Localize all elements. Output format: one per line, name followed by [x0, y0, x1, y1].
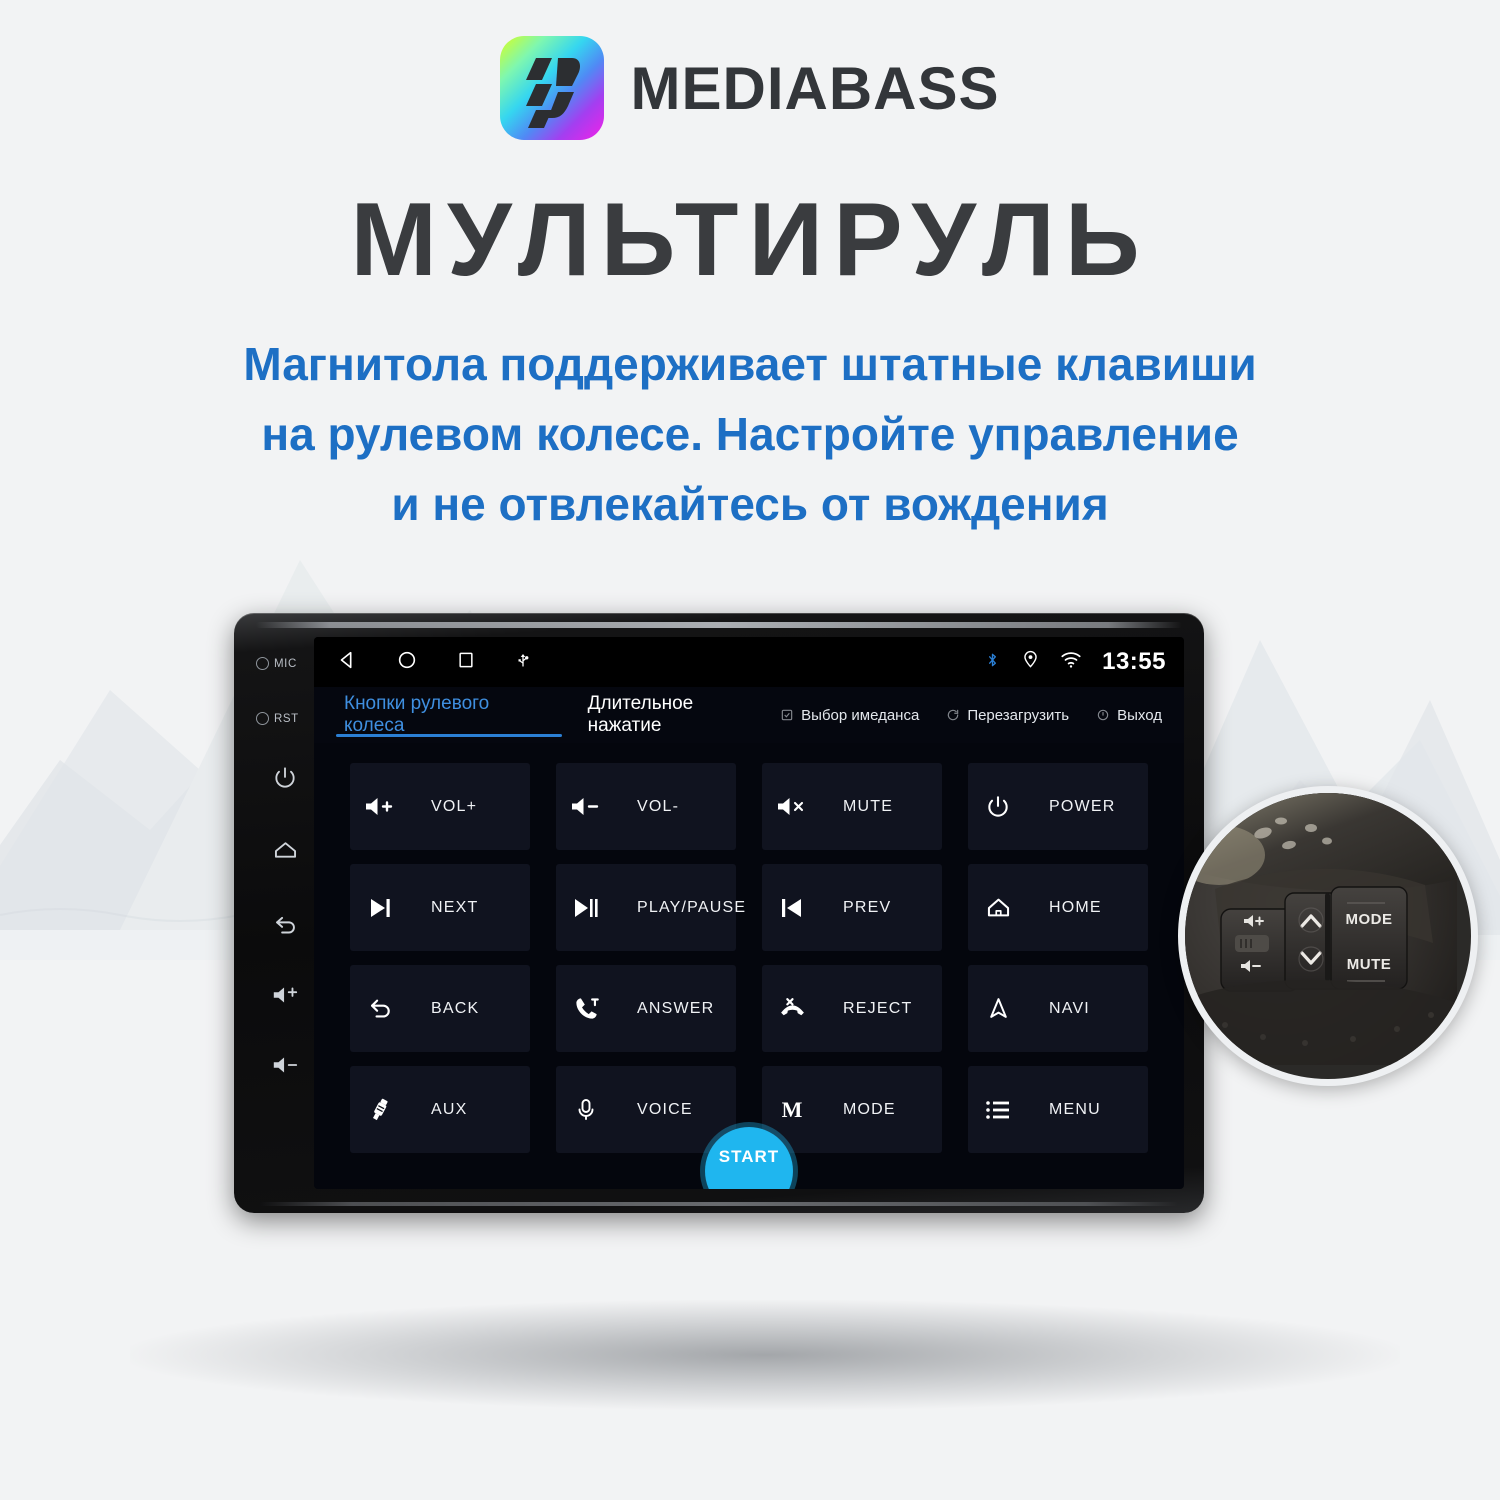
- back-triangle-icon[interactable]: [336, 649, 358, 676]
- bezel-top-highlight: [256, 622, 1182, 628]
- location-pin-icon: [1021, 649, 1040, 675]
- device-screen: 13:55 Кнопки рулевого колеса Длительное …: [314, 637, 1184, 1189]
- home-circle-icon[interactable]: [396, 649, 418, 676]
- swc-button-prev[interactable]: PREV: [762, 864, 942, 951]
- brand-name: MEDIABASS: [630, 54, 999, 123]
- tool-actions: Выбор имеданса Перезагрузить: [779, 707, 1162, 724]
- steering-wheel-photo: MODE MUTE: [1185, 793, 1457, 1065]
- status-clock: 13:55: [1102, 648, 1166, 676]
- volume-up-icon: [363, 795, 397, 819]
- home-icon[interactable]: [256, 837, 314, 864]
- back-icon[interactable]: [256, 910, 314, 937]
- swc-label: PLAY/PAUSE: [637, 899, 723, 917]
- next-track-icon: [363, 896, 397, 920]
- brand-header: MEDIABASS: [0, 36, 1500, 140]
- reset-label: RST: [274, 713, 299, 725]
- prev-track-icon: [775, 896, 809, 920]
- reload-action[interactable]: Перезагрузить: [945, 707, 1069, 724]
- device-side-rail: MIC RST: [256, 637, 314, 1189]
- power-icon[interactable]: [256, 765, 314, 791]
- impedance-select-label: Выбор имеданса: [801, 707, 919, 724]
- steering-wheel-photo-inset: MODE MUTE: [1178, 786, 1478, 1086]
- exit-icon: [1095, 708, 1110, 723]
- home-icon: [981, 894, 1015, 921]
- swc-button-menu[interactable]: MENU: [968, 1066, 1148, 1153]
- swc-label: NAVI: [1049, 1000, 1135, 1018]
- swc-button-mode[interactable]: M MODE: [762, 1066, 942, 1153]
- exit-label: Выход: [1117, 707, 1162, 724]
- swc-label: MODE: [843, 1101, 929, 1119]
- aux-plug-icon: [363, 1096, 397, 1123]
- power-icon: [981, 794, 1015, 820]
- swc-label: PREV: [843, 899, 929, 917]
- swc-button-vol-down[interactable]: VOL-: [556, 763, 736, 850]
- swc-button-answer[interactable]: ANSWER: [556, 965, 736, 1052]
- android-status-bar: 13:55: [314, 637, 1184, 687]
- swc-button-back[interactable]: BACK: [350, 965, 530, 1052]
- swc-button-voice[interactable]: VOICE: [556, 1066, 736, 1153]
- reload-label: Перезагрузить: [967, 707, 1069, 724]
- bluetooth-icon: [984, 649, 1001, 676]
- volume-down-icon: [569, 795, 603, 819]
- swc-label: VOL+: [431, 798, 517, 816]
- swc-label: AUX: [431, 1101, 517, 1119]
- svg-text:M: M: [782, 1097, 803, 1122]
- reset-hole-icon[interactable]: RST: [256, 712, 314, 725]
- swc-label: POWER: [1049, 798, 1135, 816]
- exit-action[interactable]: Выход: [1095, 707, 1162, 724]
- swc-button-navi[interactable]: NAVI: [968, 965, 1148, 1052]
- swc-button-reject[interactable]: REJECT: [762, 965, 942, 1052]
- subtitle-line-2: на рулевом колесе. Настройте управление: [0, 400, 1500, 470]
- swc-button-vol-up[interactable]: VOL+: [350, 763, 530, 850]
- swc-button-power[interactable]: POWER: [968, 763, 1148, 850]
- mic-hole-icon: MIC: [256, 657, 314, 670]
- subtitle-line-3: и не отвлекайтесь от вождения: [0, 470, 1500, 540]
- status-icons: 13:55: [984, 648, 1166, 676]
- page-subtitle: Магнитола поддерживает штатные клавиши н…: [0, 330, 1500, 540]
- recents-square-icon[interactable]: [456, 650, 476, 675]
- tab-steering-wheel-buttons[interactable]: Кнопки рулевого колеса: [336, 687, 562, 743]
- play-pause-icon: [569, 896, 603, 920]
- phone-answer-icon: [569, 995, 603, 1022]
- swc-button-aux[interactable]: AUX: [350, 1066, 530, 1153]
- wheel-key-mode: MODE: [1346, 911, 1393, 928]
- impedance-select-action[interactable]: Выбор имеданса: [779, 707, 919, 724]
- menu-list-icon: [981, 1098, 1015, 1122]
- impedance-icon: [779, 708, 794, 723]
- swc-label: VOICE: [637, 1101, 723, 1119]
- wheel-key-mute: MUTE: [1347, 956, 1392, 973]
- swc-button-next[interactable]: NEXT: [350, 864, 530, 951]
- car-head-unit: MIC RST: [234, 613, 1204, 1213]
- mediabass-logo-icon: [500, 36, 604, 140]
- navigation-icons: [336, 649, 532, 676]
- reload-icon: [945, 708, 960, 723]
- swc-button-play-pause[interactable]: PLAY/PAUSE: [556, 864, 736, 951]
- device-drop-shadow: [130, 1300, 1400, 1410]
- mic-label: MIC: [274, 658, 297, 670]
- swc-label: NEXT: [431, 899, 517, 917]
- tab-long-press[interactable]: Длительное нажатие: [580, 687, 780, 743]
- swc-label: VOL-: [637, 798, 723, 816]
- wifi-icon: [1060, 650, 1082, 674]
- page-title: МУЛЬТИРУЛЬ: [0, 188, 1500, 292]
- swc-label: BACK: [431, 1000, 517, 1018]
- bezel-bottom-highlight: [260, 1202, 1178, 1206]
- mode-m-icon: M: [775, 1097, 809, 1123]
- swc-label: MENU: [1049, 1101, 1135, 1119]
- subtitle-line-1: Магнитола поддерживает штатные клавиши: [0, 330, 1500, 400]
- swc-button-home[interactable]: HOME: [968, 864, 1148, 951]
- swc-label: MUTE: [843, 798, 929, 816]
- swc-label: HOME: [1049, 899, 1135, 917]
- screen-tab-bar: Кнопки рулевого колеса Длительное нажати…: [314, 687, 1184, 743]
- microphone-icon: [569, 1096, 603, 1123]
- volume-down-icon[interactable]: [256, 1053, 314, 1077]
- volume-up-icon[interactable]: [256, 983, 314, 1007]
- swc-label: REJECT: [843, 1000, 929, 1018]
- phone-reject-icon: [775, 995, 809, 1022]
- steering-wheel-button-grid: VOL+ VOL- MUTE: [314, 743, 1184, 1189]
- swc-label: ANSWER: [637, 1000, 723, 1018]
- swc-button-mute[interactable]: MUTE: [762, 763, 942, 850]
- usb-icon[interactable]: [514, 650, 532, 675]
- volume-mute-icon: [775, 795, 809, 819]
- navigation-arrow-icon: [981, 995, 1015, 1022]
- back-arrow-icon: [363, 995, 397, 1022]
